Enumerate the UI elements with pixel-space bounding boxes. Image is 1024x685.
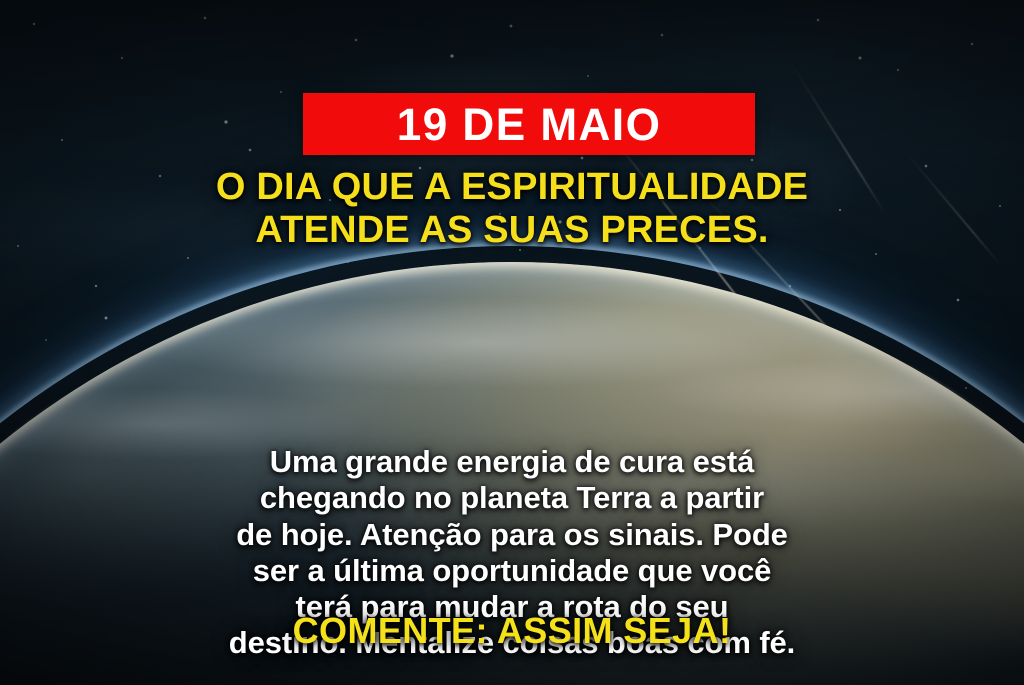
date-banner-text: 19 DE MAIO [397,102,662,147]
headline: O DIA QUE A ESPIRITUALIDADE ATENDE AS SU… [52,166,972,252]
poster: 19 DE MAIO O DIA QUE A ESPIRITUALIDADE A… [0,0,1024,685]
headline-line-2: ATENDE AS SUAS PRECES. [52,209,972,252]
body-line-2: chegando no planeta Terra a partir [72,480,952,516]
body-line-1: Uma grande energia de cura está [72,444,952,480]
poster-content: 19 DE MAIO O DIA QUE A ESPIRITUALIDADE A… [0,0,1024,685]
headline-line-1: O DIA QUE A ESPIRITUALIDADE [52,166,972,209]
date-banner: 19 DE MAIO [303,93,755,155]
body-line-4: ser a última oportunidade que você [72,553,952,589]
body-line-3: de hoje. Atenção para os sinais. Pode [72,517,952,553]
call-to-action-text: COMENTE: ASSIM SEJA! [62,613,962,649]
